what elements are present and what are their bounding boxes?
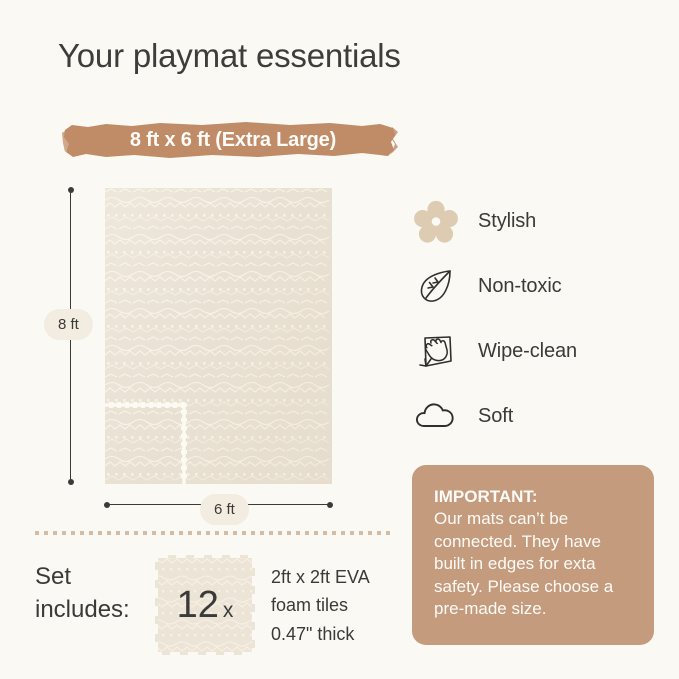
feature-label: Non-toxic: [478, 275, 562, 298]
feature-item-soft: Soft: [414, 384, 664, 449]
feature-label: Stylish: [478, 210, 536, 233]
feature-item-wipe-clean: Wipe-clean: [414, 319, 664, 384]
feature-item-stylish: Stylish: [414, 189, 664, 254]
note-body: Our mats can’t be connected. They have b…: [434, 508, 634, 620]
height-endpoint-top: [68, 187, 74, 193]
feature-label: Wipe-clean: [478, 340, 577, 363]
wipe-cloth-icon: [414, 326, 468, 378]
flower-icon: [414, 196, 468, 248]
feature-label: Soft: [478, 405, 513, 428]
note-title: IMPORTANT:: [434, 486, 634, 508]
infographic-page: Your playmat essentials 8 ft x 6 ft (Ext…: [0, 0, 679, 679]
tile-count-multiplier: x: [223, 590, 234, 621]
tile-count-overlay: 12 x: [152, 552, 258, 658]
set-includes-label: Set includes:: [35, 560, 130, 626]
tile-description: 2ft x 2ft EVA foam tiles 0.47" thick: [271, 563, 370, 648]
leaf-icon: [414, 261, 468, 313]
page-title: Your playmat essentials: [58, 37, 401, 75]
size-badge: 8 ft x 6 ft (Extra Large): [62, 119, 398, 161]
cloud-icon: [414, 391, 468, 443]
height-endpoint-bottom: [68, 479, 74, 485]
width-endpoint-right: [327, 502, 333, 508]
single-tile-outline-icon: [105, 402, 187, 484]
height-label: 8 ft: [44, 309, 93, 340]
size-badge-label: 8 ft x 6 ft (Extra Large): [62, 119, 398, 161]
feature-list: Stylish Non-toxic: [414, 189, 664, 449]
tile-count-number: 12: [177, 586, 219, 624]
feature-item-non-toxic: Non-toxic: [414, 254, 664, 319]
playmat-diagram: [105, 188, 332, 484]
section-divider: [35, 531, 395, 535]
width-label: 6 ft: [200, 494, 249, 525]
important-note: IMPORTANT: Our mats can’t be connected. …: [412, 465, 654, 645]
width-endpoint-left: [104, 502, 110, 508]
